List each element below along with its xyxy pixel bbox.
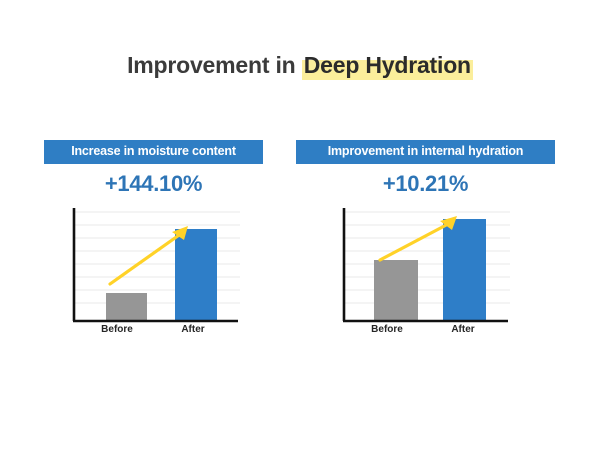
- metric-panel-moisture: Increase in moisture content +144.10%: [44, 140, 263, 197]
- badge-moisture-content: Increase in moisture content: [44, 140, 263, 164]
- axis-label-before-moisture: Before: [82, 324, 152, 335]
- metric-panel-hydration: Improvement in internal hydration +10.21…: [296, 140, 555, 197]
- axis-label-after-hydration: After: [428, 324, 498, 335]
- bar-chart-svg-hydration: [330, 208, 510, 326]
- bar-after-hydration: [443, 219, 486, 321]
- axis-labels-moisture: Before After: [60, 324, 240, 340]
- page-title-highlight: Deep Hydration: [302, 52, 473, 80]
- value-internal-hydration: +10.21%: [296, 171, 555, 197]
- bar-chart-svg-moisture: [60, 208, 240, 326]
- badge-internal-hydration: Improvement in internal hydration: [296, 140, 555, 164]
- bar-after-moisture: [175, 229, 217, 321]
- axis-label-after-moisture: After: [158, 324, 228, 335]
- bar-before-moisture: [106, 293, 147, 321]
- page-title-plain: Improvement in: [127, 52, 302, 78]
- chart-internal-hydration: Before After: [330, 208, 510, 343]
- axis-label-before-hydration: Before: [352, 324, 422, 335]
- chart-moisture-content: Before After: [60, 208, 240, 343]
- axis-labels-hydration: Before After: [330, 324, 510, 340]
- bar-before-hydration: [374, 260, 418, 321]
- page-title: Improvement in Deep Hydration: [0, 52, 600, 79]
- value-moisture-content: +144.10%: [44, 171, 263, 197]
